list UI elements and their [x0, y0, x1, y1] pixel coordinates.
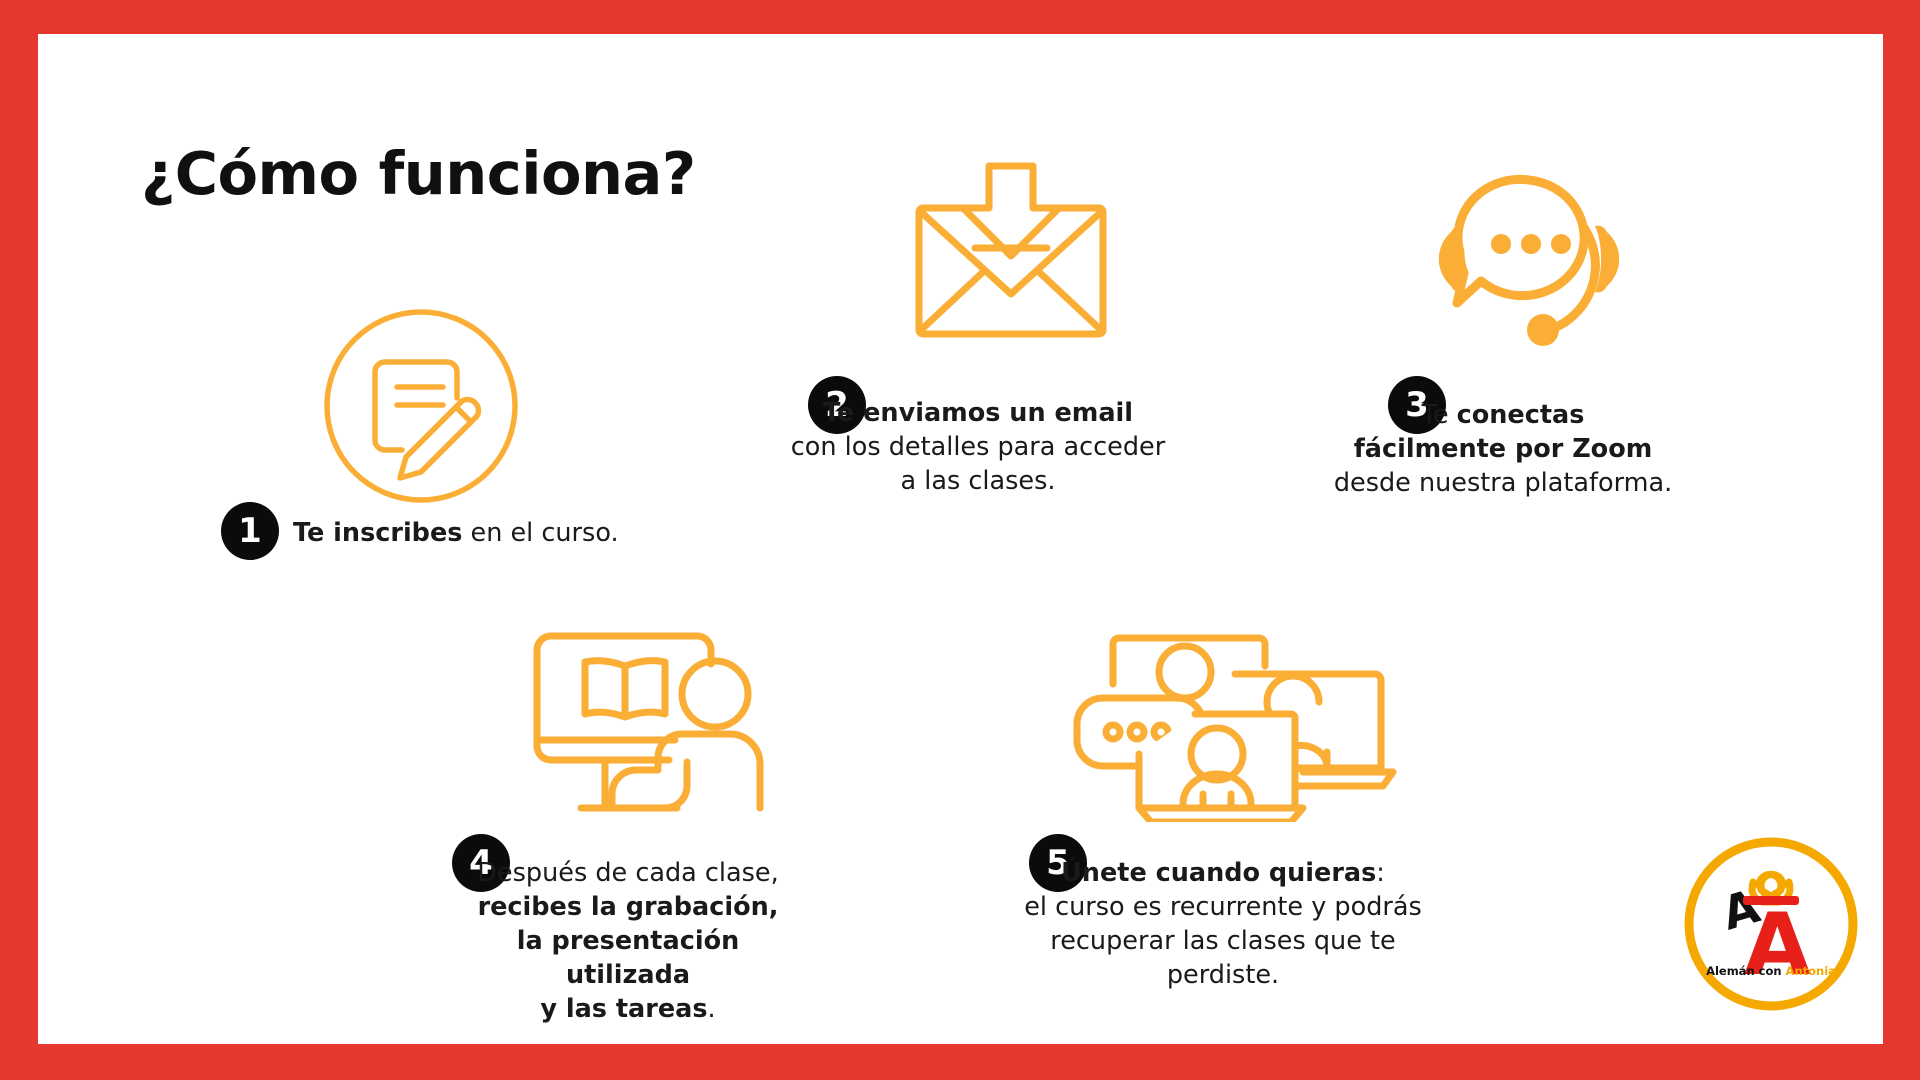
step2-line2: con los detalles para acceder [791, 432, 1165, 462]
step5-line1-bold: Únete cuando quieras [1061, 858, 1376, 888]
step1-line1-bold: Te inscribes [293, 518, 462, 548]
page-title: ¿Cómo funciona? [141, 139, 696, 208]
step5-line2: el curso es recurrente y podrás [1024, 892, 1422, 922]
step-badge-1: 1 [221, 502, 279, 560]
step5-line1-normal: : [1376, 858, 1385, 888]
step4-line4-normal: . [708, 994, 716, 1024]
step2-line1-bold: Te enviamos un email [823, 398, 1133, 428]
step-caption-4: Después de cada clase, recibes la grabac… [458, 856, 798, 1026]
step-caption-2: Te enviamos un email con los detalles pa… [778, 396, 1178, 498]
step3-line1-bold: conectas [1457, 400, 1585, 430]
monitor-book-person-icon [525, 622, 775, 822]
step3-line3: desde nuestra plataforma. [1334, 468, 1672, 498]
step2-line3: a las clases. [901, 466, 1056, 496]
step3-line2-bold: fácilmente por Zoom [1354, 434, 1653, 464]
step1-line1-normal: en el curso. [462, 518, 618, 548]
step-caption-5: Únete cuando quieras: el curso es recurr… [1003, 856, 1443, 992]
step-caption-3: Te conectas fácilmente por Zoom desde nu… [1318, 398, 1688, 500]
step-caption-1: Te inscribes en el curso. [293, 516, 713, 550]
step3-line1-normal: Te [1422, 400, 1457, 430]
step4-line4-bold: y las tareas [540, 994, 707, 1024]
logo-letter-front: A [1744, 895, 1811, 995]
white-content-panel: ¿Cómo funciona? 1 Te inscribes en el cur… [38, 34, 1883, 1044]
step4-line1: Después de cada clase, [477, 858, 778, 888]
step4-line2: recibes la grabación, [478, 892, 779, 922]
logo-tagline-plain: Alemán con [1706, 964, 1785, 978]
alemanconantonia-logo[interactable]: A A Alemán con Antonia [1681, 834, 1861, 1014]
document-pencil-icon [321, 306, 521, 506]
logo-tagline-accent: Antonia [1786, 964, 1836, 978]
step5-line3: recuperar las clases que te perdiste. [1050, 926, 1395, 990]
slide-root: ¿Cómo funciona? 1 Te inscribes en el cur… [0, 0, 1920, 1080]
video-conference-icon [1065, 622, 1405, 822]
headset-chat-icon [1423, 152, 1633, 352]
step4-line3: la presentación utilizada [517, 926, 740, 990]
email-download-icon [911, 156, 1111, 346]
